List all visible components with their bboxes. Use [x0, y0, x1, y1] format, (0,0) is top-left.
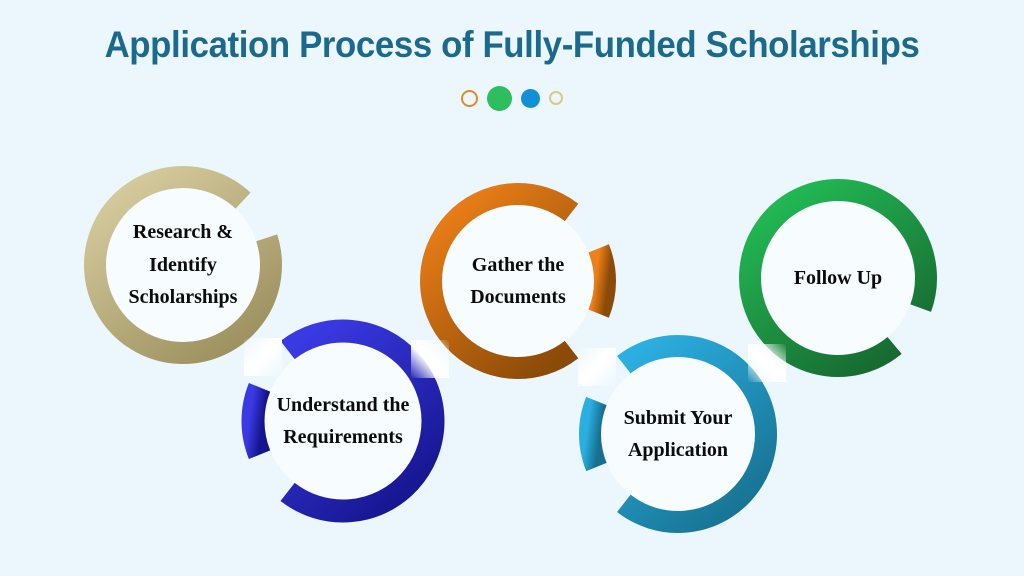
- connector-2-3: [411, 340, 449, 378]
- infographic-canvas: Application Process of Fully-Funded Scho…: [0, 0, 1024, 576]
- process-chain: Research &IdentifyScholarshipsUnderstand…: [0, 0, 1024, 576]
- connector-4-5: [748, 344, 786, 382]
- connector-3-4: [578, 348, 616, 386]
- connector-1-2: [244, 338, 282, 376]
